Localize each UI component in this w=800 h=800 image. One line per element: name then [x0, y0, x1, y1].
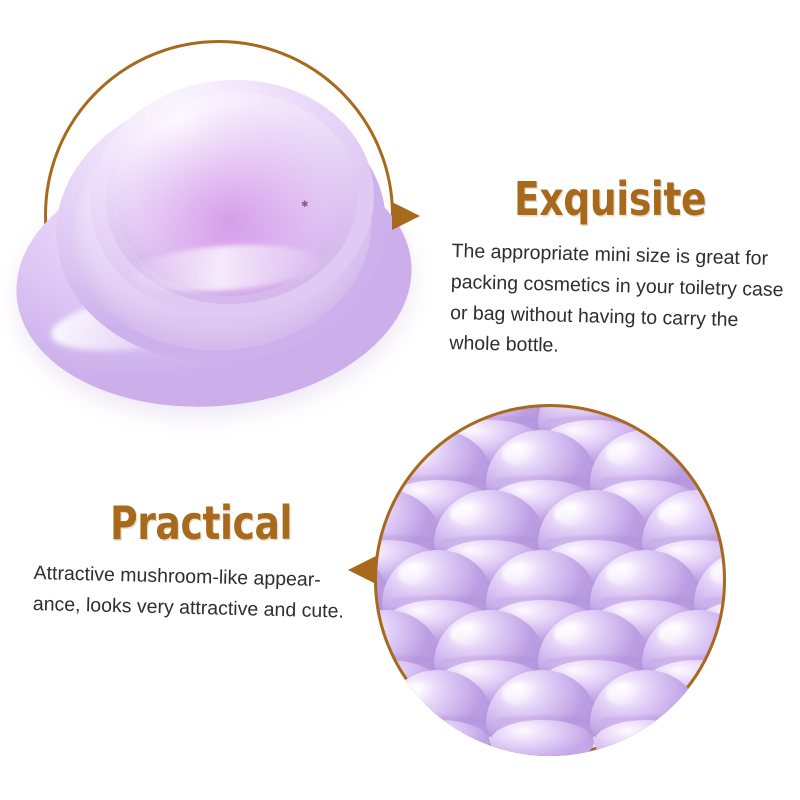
cap-highlight: [554, 502, 596, 526]
headline-practical: Practical: [110, 500, 318, 546]
headline-exquisite: Exquisite: [514, 176, 739, 222]
cap-highlight: [606, 682, 648, 706]
cap-highlight: [398, 562, 440, 586]
mushroom-cap: [486, 670, 598, 756]
cap-highlight: [554, 622, 596, 646]
body-exquisite: The appropriate mini size is great for p…: [449, 236, 788, 367]
cap-highlight: [398, 442, 440, 466]
cap-highlight: [658, 622, 700, 646]
cap-lip: [386, 720, 490, 756]
cap-highlight: [502, 442, 544, 466]
feature-image-exquisite: ✱: [44, 40, 394, 390]
cap-highlight: [606, 442, 648, 466]
cap-highlight: [502, 562, 544, 586]
callout-pointer-practical: [348, 556, 376, 584]
cap-highlight: [502, 682, 544, 706]
mushroom-cap: [694, 670, 726, 756]
body-practical: Attractive mushroom-like appear- ance, l…: [32, 558, 363, 628]
cap-highlight: [450, 502, 492, 526]
cap-highlight: [658, 502, 700, 526]
cap-highlight: [450, 622, 492, 646]
feature-image-practical: [374, 404, 726, 756]
circle-clip-practical: [374, 404, 726, 756]
open-jar-photo: ✱: [0, 50, 448, 420]
mushroom-caps-grid: [374, 404, 726, 756]
mushroom-cap: [382, 670, 494, 756]
callout-pointer-exquisite: [392, 202, 420, 230]
infographic-canvas: ✱ Exquisite The appropriate mini size is…: [0, 0, 800, 800]
mushroom-cap: [590, 670, 702, 756]
cap-highlight: [606, 562, 648, 586]
cap-highlight: [398, 682, 440, 706]
feature-text-exquisite: Exquisite The appropriate mini size is g…: [452, 176, 788, 359]
jar-surface-speck: ✱: [301, 201, 306, 208]
cap-lip: [594, 720, 698, 756]
feature-text-practical: Practical Attractive mushroom-like appea…: [34, 500, 364, 620]
cap-lip: [490, 720, 594, 756]
